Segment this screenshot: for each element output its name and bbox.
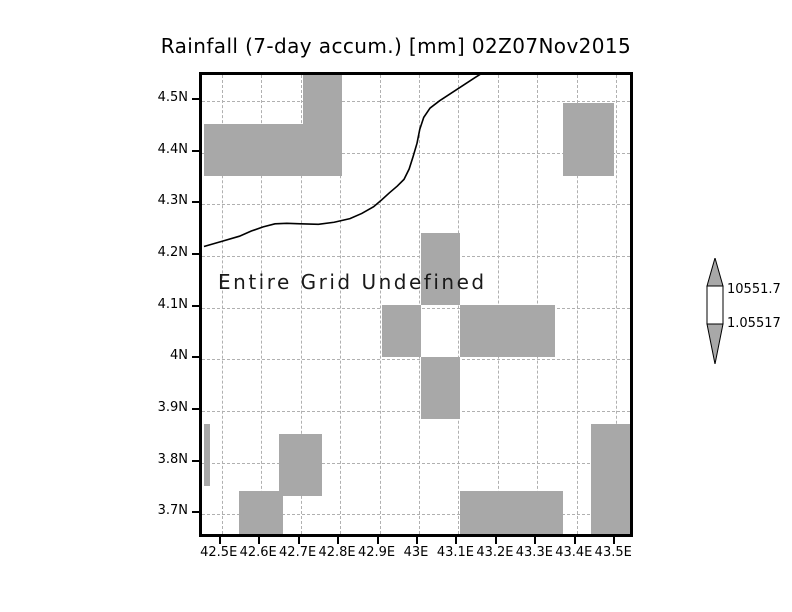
- colorbar-low-label: 1.05517: [727, 316, 781, 331]
- y-axis-tick-label: 3.7N: [130, 503, 188, 518]
- cell-mid-right-band: [460, 305, 555, 357]
- cell-top-center: [303, 72, 342, 124]
- y-axis-tick-label: 4N: [130, 348, 188, 363]
- cell-left-sliver: [204, 424, 210, 486]
- y-axis-tick: [192, 201, 199, 203]
- y-axis-tick-label: 3.8N: [130, 452, 188, 467]
- x-axis-tick: [613, 537, 615, 544]
- cell-upper-left-wide: [204, 124, 342, 176]
- plot-canvas: Entire Grid Undefined: [202, 75, 630, 534]
- gridline-vertical: [380, 75, 381, 534]
- gridline-horizontal: [202, 463, 630, 464]
- gridline-horizontal: [202, 256, 630, 257]
- y-axis-tick: [192, 408, 199, 410]
- cell-lower-right-edge: [591, 424, 633, 537]
- y-axis-tick-label: 4.4N: [130, 142, 188, 157]
- x-axis-tick: [377, 537, 379, 544]
- y-axis-tick-label: 4.2N: [130, 245, 188, 260]
- gridline-horizontal: [202, 101, 630, 102]
- gridline-horizontal: [202, 204, 630, 205]
- y-axis-tick: [192, 253, 199, 255]
- x-axis-tick: [534, 537, 536, 544]
- cell-lower-right-wide: [460, 491, 563, 537]
- cell-mid-center-upper: [421, 233, 460, 305]
- x-axis-tick: [298, 537, 300, 544]
- page-title: Rainfall (7-day accum.) [mm] 02Z07Nov201…: [0, 34, 792, 58]
- colorbar-high-label: 10551.7: [727, 282, 781, 297]
- undefined-grid-message: Entire Grid Undefined: [218, 270, 487, 294]
- cell-lower-left-lower: [239, 491, 282, 537]
- gridline-horizontal: [202, 411, 630, 412]
- cell-upper-right: [563, 103, 614, 175]
- colorbar[interactable]: 10551.7 1.05517: [700, 258, 792, 364]
- colorbar-spindle-icon: [700, 258, 730, 364]
- x-axis-tick: [258, 537, 260, 544]
- x-axis-tick: [416, 537, 418, 544]
- y-axis-tick: [192, 305, 199, 307]
- y-axis-tick: [192, 460, 199, 462]
- y-axis-tick: [192, 150, 199, 152]
- y-axis-tick-label: 3.9N: [130, 400, 188, 415]
- gridline-horizontal: [202, 359, 630, 360]
- x-axis-tick: [495, 537, 497, 544]
- y-axis-tick: [192, 356, 199, 358]
- y-axis-tick-label: 4.1N: [130, 297, 188, 312]
- x-axis-tick: [219, 537, 221, 544]
- x-axis-tick: [574, 537, 576, 544]
- plot-area[interactable]: Entire Grid Undefined: [199, 72, 633, 537]
- x-axis-tick: [455, 537, 457, 544]
- y-axis-tick: [192, 98, 199, 100]
- y-axis-tick-label: 4.3N: [130, 193, 188, 208]
- x-axis-tick-label: 43.5E: [589, 545, 637, 560]
- cell-mid-left-band: [382, 305, 421, 357]
- x-axis-tick: [337, 537, 339, 544]
- y-axis-tick: [192, 511, 199, 513]
- y-axis-tick-label: 4.5N: [130, 90, 188, 105]
- cell-lower-left-upper: [279, 434, 322, 496]
- cell-mid-center-lower: [421, 357, 460, 419]
